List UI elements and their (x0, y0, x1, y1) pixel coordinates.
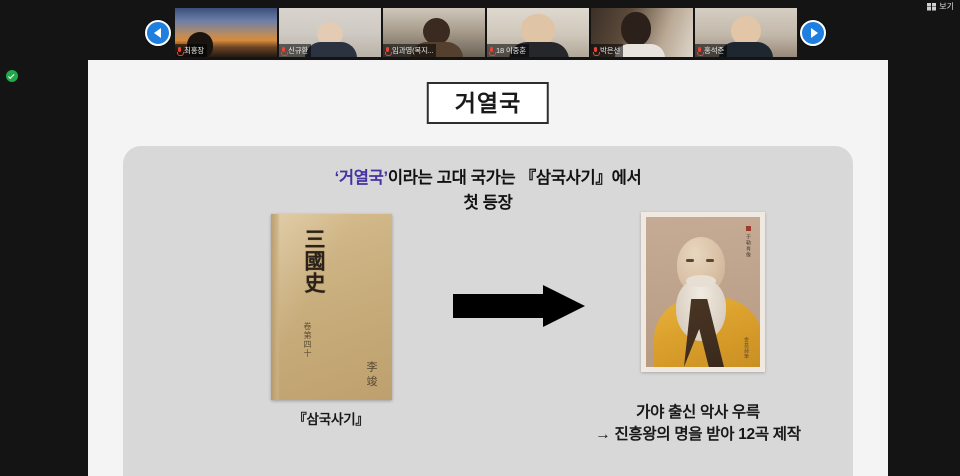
participant-name: 임과영(복지... (392, 45, 433, 56)
samguksagi-book-image: 三國史 卷第四十 李 竣 (271, 214, 392, 400)
book-cover-inscription: 李 竣 (365, 361, 378, 387)
grid-view-icon (927, 3, 936, 11)
mic-muted-icon (281, 47, 286, 55)
participant-name: 신규환 (288, 45, 308, 56)
portrait-moustache (686, 275, 716, 287)
mic-muted-icon (697, 47, 702, 55)
zoom-meeting-window: 보기 최홍장 신규환 (0, 0, 960, 476)
check-mark (8, 72, 14, 78)
portrait-seal (746, 226, 751, 231)
filmstrip-next-button[interactable] (800, 20, 826, 46)
book-cover-subtitle: 卷第四十 (302, 322, 313, 358)
slide-content-panel: ‘거열국’이라는 고대 국가는 『삼국사기』에서 첫 등장 三國史 卷第四十 李… (123, 146, 853, 476)
participant-tile[interactable]: 임과영(복지... (383, 8, 485, 57)
ureuk-portrait-image: 于勒肖像 金基昶筆 (641, 212, 765, 372)
portrait-canvas: 于勒肖像 金基昶筆 (646, 217, 760, 367)
participant-thumbnails: 최홍장 신규환 임과영(복지... (175, 8, 795, 57)
participant-tile[interactable]: 최홍장 (175, 8, 277, 57)
participant-name: 최홍장 (184, 45, 204, 56)
portrait-caption-line2: → 진흥왕의 명을 받아 12곡 제작 (523, 424, 873, 446)
slide-lead-text: ‘거열국’이라는 고대 국가는 『삼국사기』에서 첫 등장 (123, 166, 853, 216)
mic-muted-icon (489, 47, 494, 55)
shared-screen-region: 거열국 ‘거열국’이라는 고대 국가는 『삼국사기』에서 첫 등장 三國史 卷第… (88, 60, 888, 476)
participant-name-chip: 신규환 (279, 44, 311, 57)
participant-filmstrip: 최홍장 신규환 임과영(복지... (0, 8, 960, 57)
right-arrow-icon (453, 285, 585, 327)
presentation-slide: 거열국 ‘거열국’이라는 고대 국가는 『삼국사기』에서 첫 등장 三國史 卷第… (88, 60, 888, 476)
portrait-column-text: 于勒肖像 (745, 234, 752, 258)
participant-name-chip: 18 이중훈 (487, 44, 529, 57)
participant-name: 18 이중훈 (496, 45, 526, 56)
lead-line1-rest: 이라는 고대 국가는 『삼국사기』에서 (388, 169, 642, 187)
slide-title-box: 거열국 (427, 82, 549, 124)
participant-body (305, 42, 357, 57)
participant-silhouette (423, 18, 450, 45)
check-circle-icon[interactable] (6, 70, 18, 82)
mic-muted-icon (385, 47, 390, 55)
book-cover-title: 三國史 (297, 228, 327, 294)
mic-muted-icon (177, 47, 182, 55)
highlight-term: ‘거열국’ (335, 169, 388, 187)
slide-title: 거열국 (455, 91, 521, 115)
participant-name: 박은선 (600, 45, 620, 56)
chevron-left-icon (154, 28, 161, 38)
participant-name-chip: 홍석준 (695, 44, 727, 57)
participant-name: 홍석준 (704, 45, 724, 56)
portrait-caption: 가야 출신 악사 우륵 → 진흥왕의 명을 받아 12곡 제작 (523, 402, 873, 447)
participant-tile[interactable]: 18 이중훈 (487, 8, 589, 57)
participant-tile[interactable]: 홍석준 (695, 8, 797, 57)
participant-silhouette (621, 12, 651, 46)
participant-name-chip: 임과영(복지... (383, 44, 436, 57)
participant-tile[interactable]: 신규환 (279, 8, 381, 57)
portrait-eye-right (706, 259, 714, 262)
participant-tile[interactable]: 박은선 (591, 8, 693, 57)
portrait-caption-line1: 가야 출신 악사 우륵 (636, 404, 760, 421)
view-switch-button[interactable]: 보기 (925, 1, 956, 12)
portrait-signature: 金基昶筆 (743, 337, 750, 359)
view-switch-label: 보기 (939, 2, 954, 11)
participant-name-chip: 박은선 (591, 44, 623, 57)
chevron-right-icon (811, 28, 818, 38)
mic-muted-icon (593, 47, 598, 55)
portrait-eye-left (686, 259, 694, 262)
lead-line2: 첫 등장 (464, 194, 513, 212)
filmstrip-prev-button[interactable] (145, 20, 171, 46)
book-caption: 『삼국사기』 (231, 408, 431, 428)
top-bar (0, 0, 960, 8)
participant-name-chip: 최홍장 (175, 44, 207, 57)
